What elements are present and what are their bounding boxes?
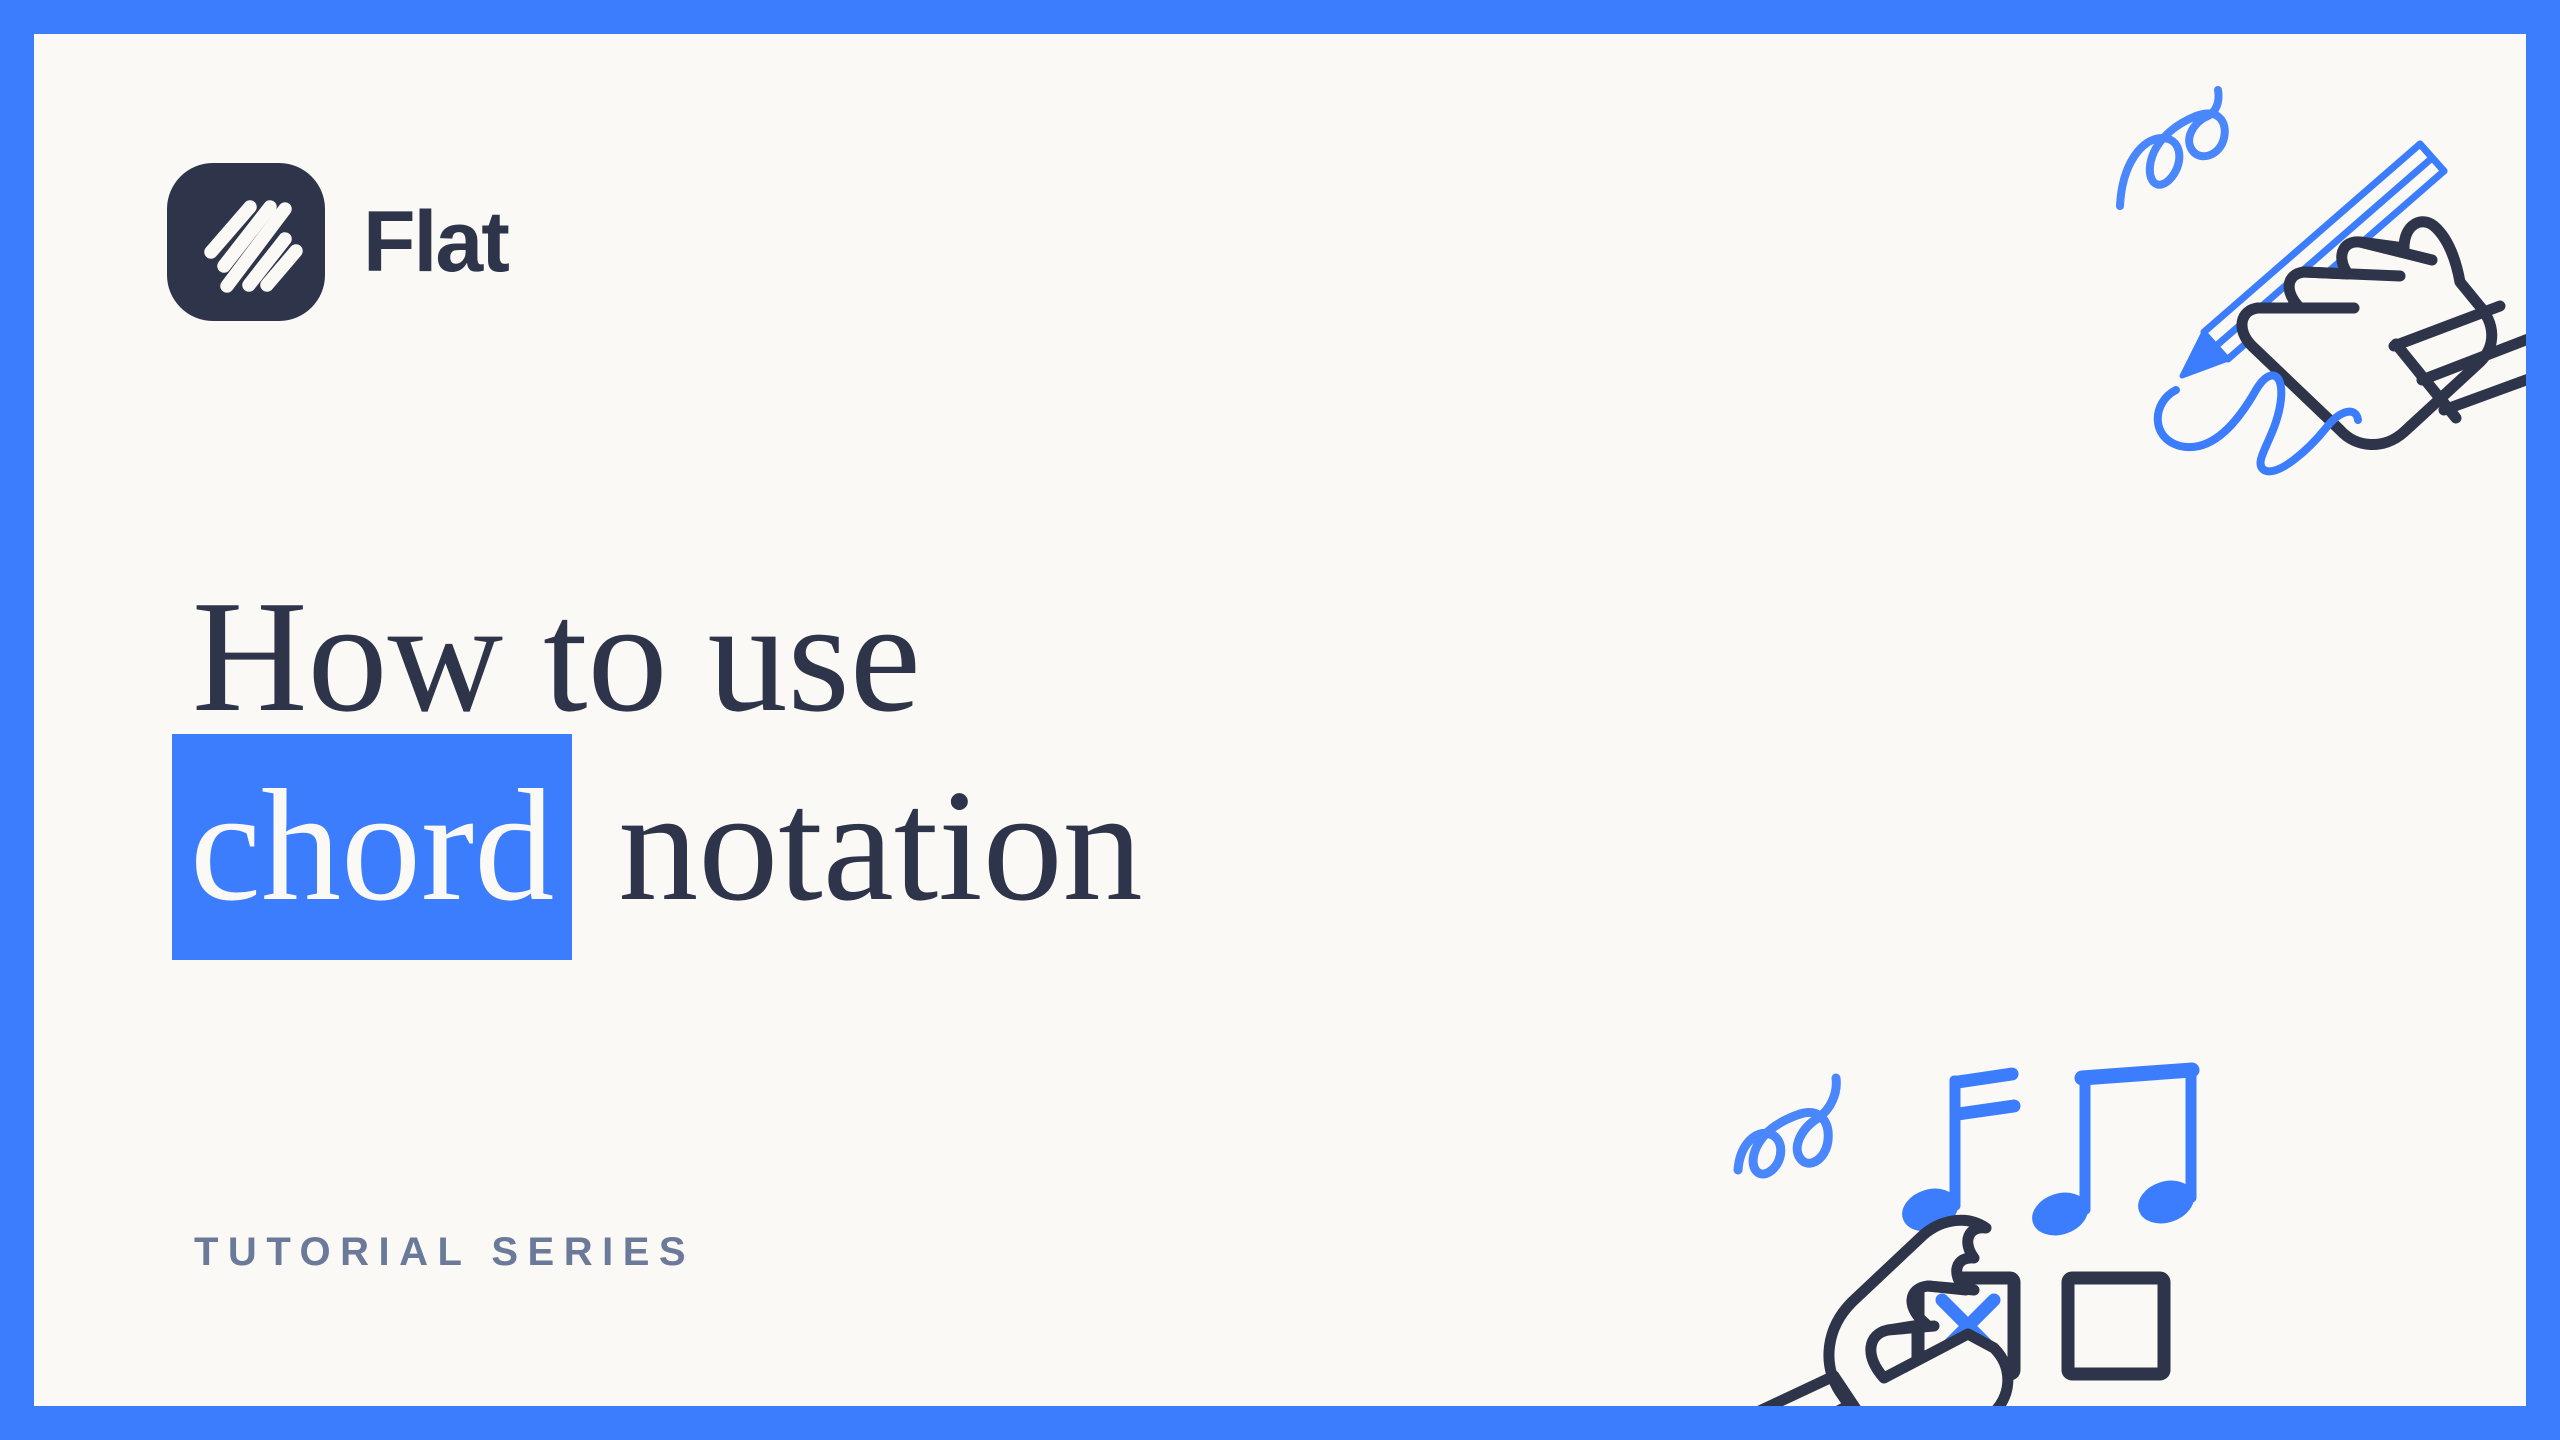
treble-clef-flourish-icon bbox=[1738, 1078, 1836, 1174]
flat-diagonal-stripes-icon bbox=[167, 163, 325, 321]
headline-highlight-word: chord bbox=[172, 734, 572, 960]
headline-line-1: How to use bbox=[192, 574, 1752, 739]
treble-clef-flourish-icon bbox=[2120, 90, 2225, 206]
checkbox-checked-icon[interactable] bbox=[1918, 1278, 2014, 1374]
brand-name: Flat bbox=[363, 199, 508, 285]
sleeve-lines bbox=[2394, 306, 2526, 418]
brand-lockup: Flat bbox=[167, 163, 508, 321]
headline-line-2-rest: notation bbox=[578, 756, 1142, 934]
slide-canvas: Flat How to use chord notation TUTORIAL … bbox=[0, 0, 2560, 1440]
sixteenth-note-icon bbox=[1897, 1074, 2014, 1238]
pointing-hand-finger-lines bbox=[1888, 1286, 1974, 1330]
eyebrow-label: TUTORIAL SERIES bbox=[194, 1230, 695, 1275]
hand-knuckle-lines bbox=[2258, 242, 2432, 308]
beamed-eighth-notes-icon bbox=[2027, 1070, 2199, 1242]
pencil-icon bbox=[2204, 144, 2444, 359]
scribble-squiggle-icon bbox=[2158, 375, 2358, 471]
slide-card: Flat How to use chord notation TUTORIAL … bbox=[34, 34, 2526, 1406]
pointing-hand-icon bbox=[1829, 1220, 2008, 1406]
hand-holding-pencil-icon bbox=[2242, 222, 2492, 445]
sleeve-lines bbox=[1736, 1376, 1882, 1406]
headline-line-2: chord notation bbox=[190, 763, 1752, 928]
hand-drawing-with-pencil-illustration bbox=[2104, 46, 2526, 486]
page-title: How to use chord notation bbox=[192, 574, 1752, 928]
pencil-tip-icon bbox=[2182, 332, 2228, 376]
checkbox-empty-icon[interactable] bbox=[2068, 1278, 2164, 1374]
hand-clicking-chord-checkbox-illustration bbox=[1722, 1034, 2202, 1406]
